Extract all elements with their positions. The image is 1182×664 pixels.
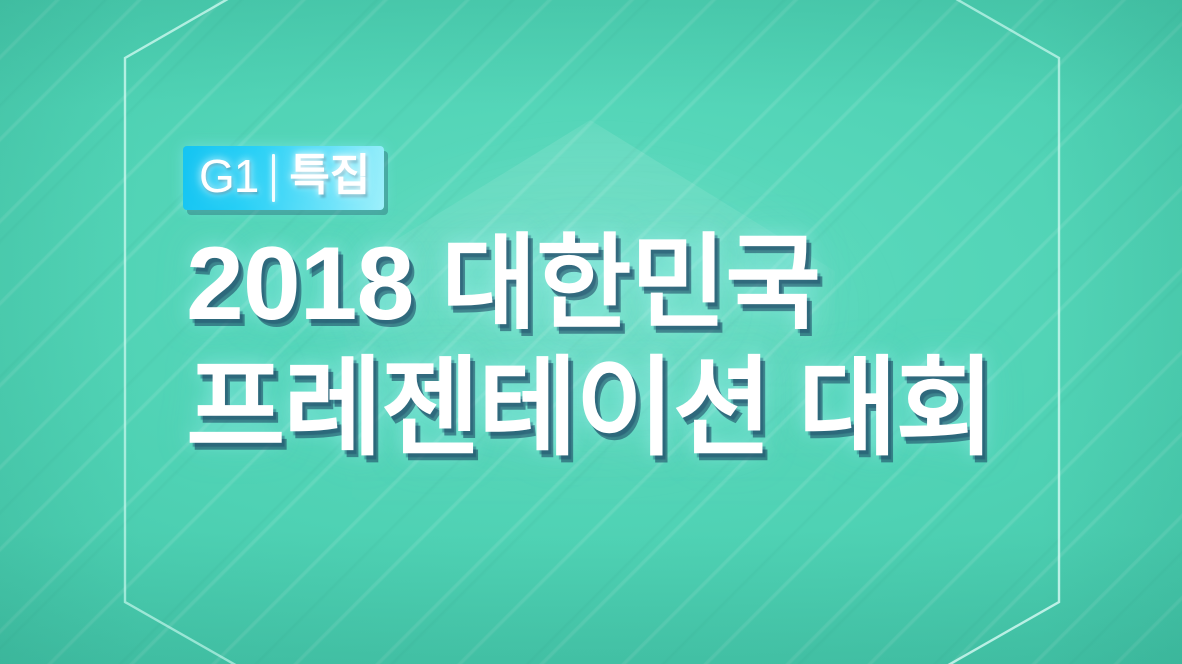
- program-badge: G1 특집: [183, 146, 384, 210]
- page-title: 2018 대한민국 프레젠테이션 대회: [186, 222, 1146, 470]
- channel-logo-g1: G1: [199, 153, 258, 203]
- badge-label-special: 특집: [289, 154, 370, 202]
- title-line-1: 2018 대한민국: [186, 222, 1146, 346]
- title-line-2: 프레젠테이션 대회: [186, 346, 1146, 470]
- broadcast-title-card: G1 특집 2018 대한민국 프레젠테이션 대회: [0, 0, 1182, 664]
- badge-divider: [272, 154, 275, 202]
